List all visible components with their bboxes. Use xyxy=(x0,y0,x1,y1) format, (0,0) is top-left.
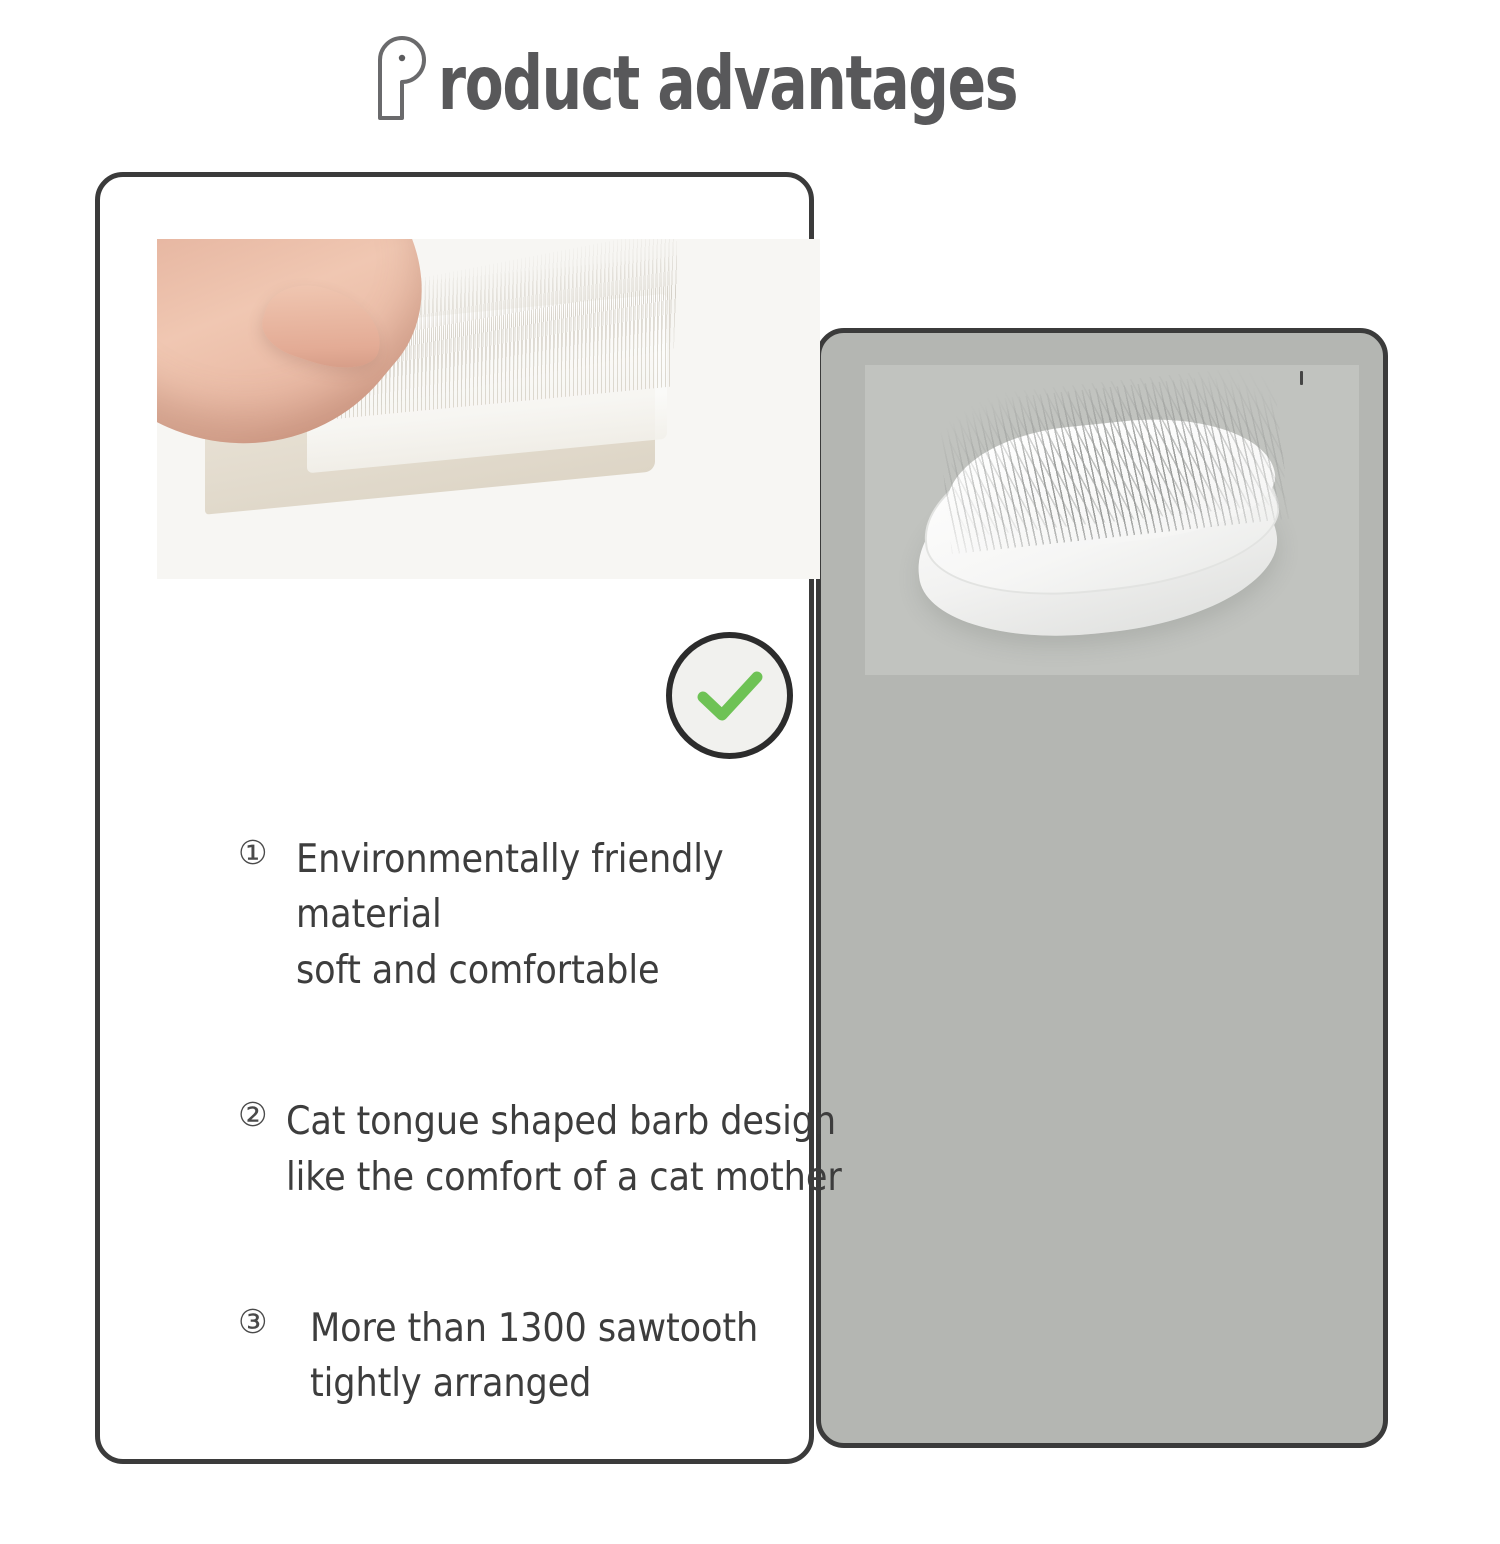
check-mark-badge xyxy=(666,632,793,759)
bad-product-card: ① Metal material, not soft ② Needle desi… xyxy=(816,328,1388,1448)
check-icon xyxy=(691,657,769,735)
list-item-number: ③ xyxy=(238,1301,310,1339)
page-title: roduct advantages xyxy=(0,28,1500,124)
fingertip xyxy=(255,273,392,380)
title-initial-p-icon xyxy=(372,30,434,122)
list-item-label: Environmentally friendly material soft a… xyxy=(296,832,878,998)
list-item: ③ More than 1300 sawtooth tightly arrang… xyxy=(238,1301,878,1412)
title-text: roduct advantages xyxy=(438,46,1017,121)
list-item-number: ① xyxy=(238,832,296,870)
good-advantage-list: ① Environmentally friendly material soft… xyxy=(238,832,878,1412)
list-item-number: ② xyxy=(238,1094,286,1132)
list-item: ① Environmentally friendly material soft… xyxy=(238,832,878,998)
list-item: ② Cat tongue shaped barb design like the… xyxy=(238,1094,878,1205)
silicone-brush-photo xyxy=(157,239,820,579)
list-item-label: More than 1300 sawtooth tightly arranged xyxy=(310,1301,758,1412)
photo-speck xyxy=(1300,371,1303,385)
list-item-label: Cat tongue shaped barb design like the c… xyxy=(286,1094,842,1205)
needle-brush-photo xyxy=(865,365,1359,675)
good-product-card: ① Environmentally friendly material soft… xyxy=(95,172,814,1464)
